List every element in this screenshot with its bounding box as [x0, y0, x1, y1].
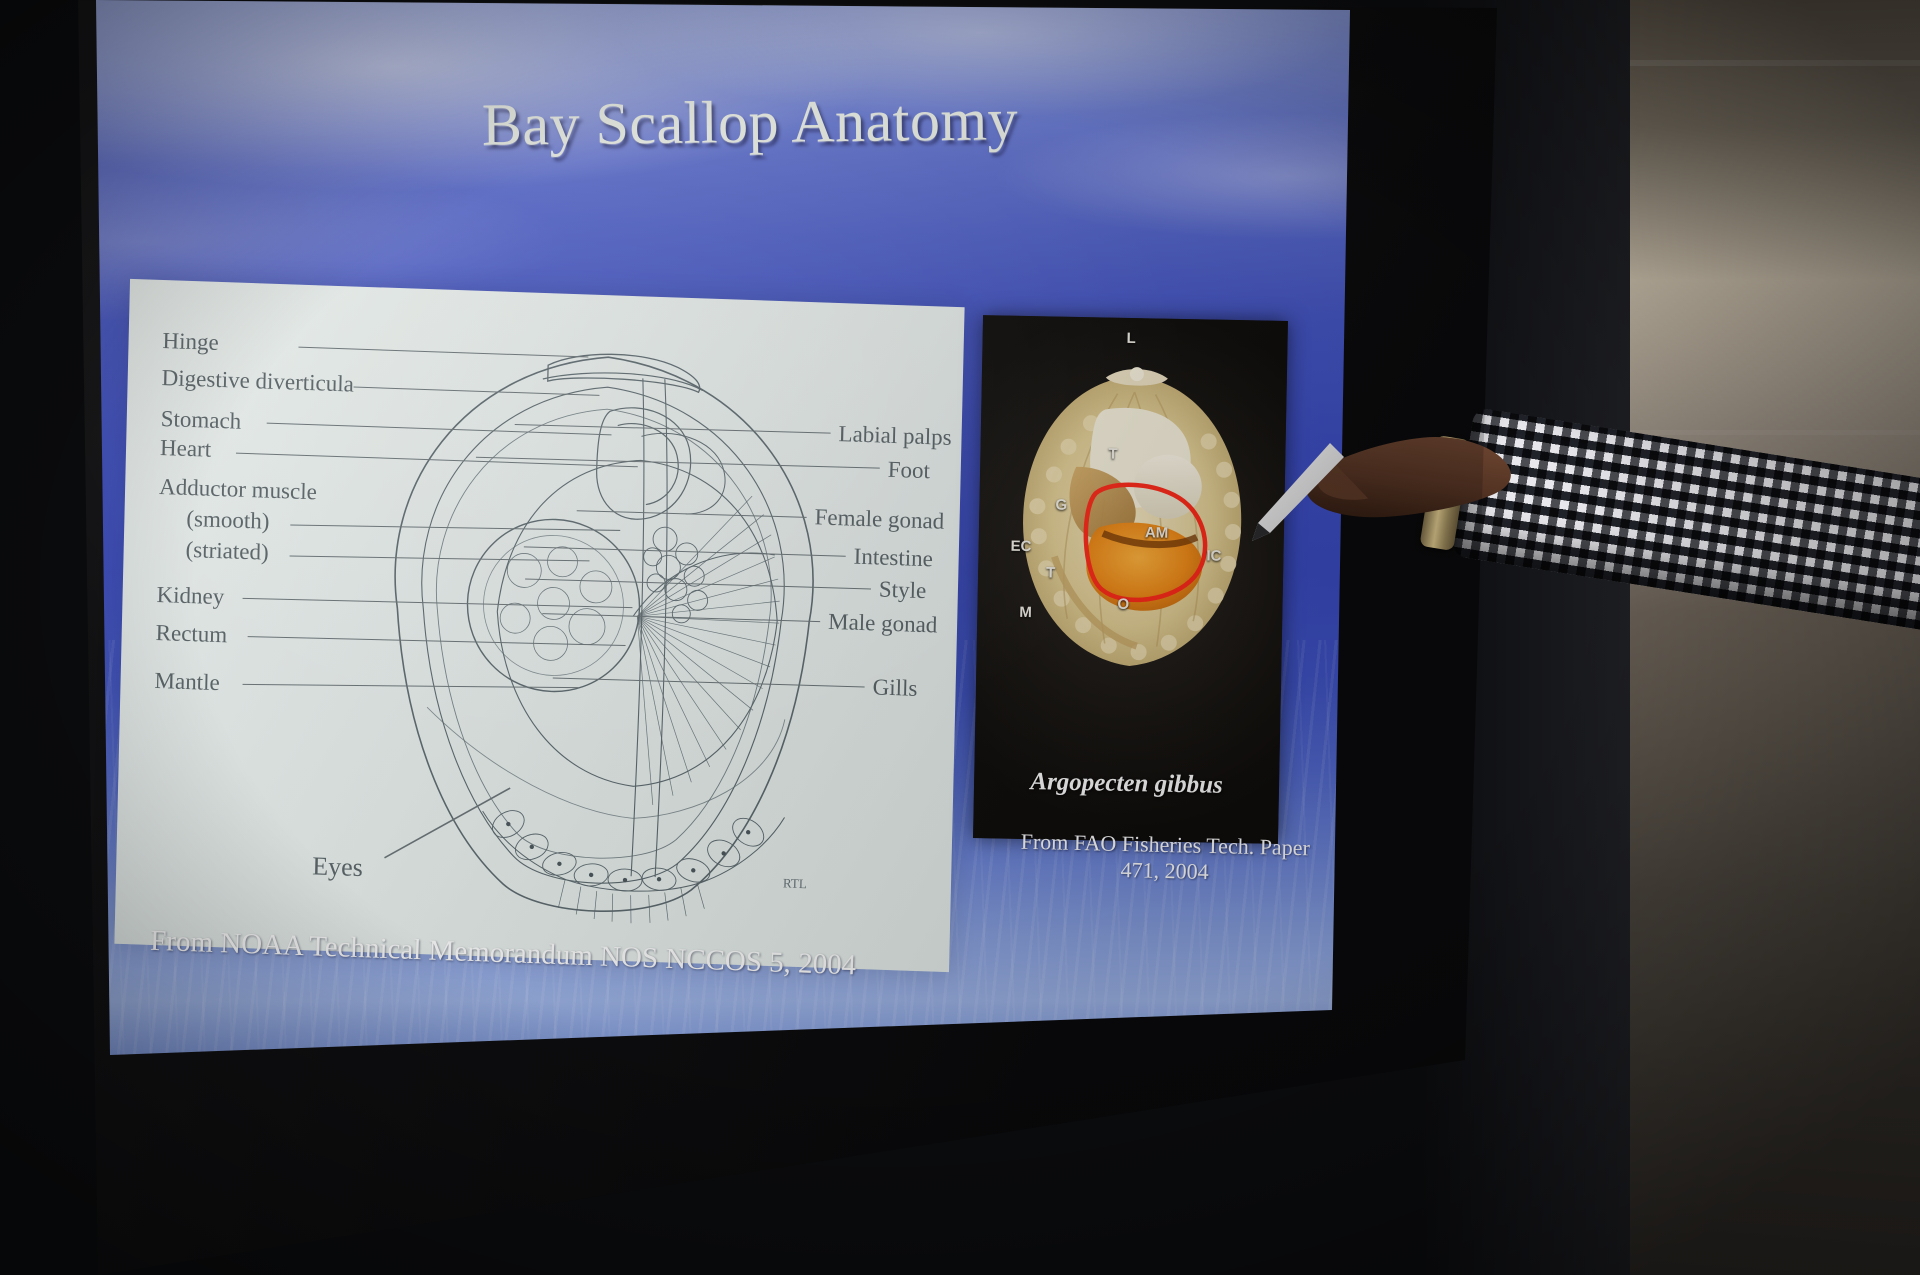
species-name: Argopecten gibbus: [974, 767, 1279, 801]
photo-marker-T-lower: T: [1046, 564, 1055, 581]
photo-marker-L: L: [1126, 330, 1135, 347]
fao-credit: From FAO Fisheries Tech. Paper 471, 2004: [999, 828, 1330, 887]
anatomy-diagram-card: RTL Hinge Digestive diverticula Stomach …: [114, 279, 964, 972]
opened-scallop-photograph: [1004, 356, 1260, 681]
photo-of-projected-slide: Bay Scallop Anatomy: [0, 0, 1920, 1275]
slide-title: Bay Scallop Anatomy: [370, 84, 1131, 161]
photo-marker-AM: AM: [1145, 524, 1169, 541]
room-background-right: [1630, 0, 1920, 1275]
room-shelf-edge-2: [1630, 430, 1920, 435]
scallop-photo-card: L T G AM IC EC T M O Argopecten gibbus: [973, 315, 1288, 844]
leader-eyes: [114, 279, 964, 972]
photo-marker-O: O: [1117, 596, 1129, 613]
photo-marker-M: M: [1019, 604, 1032, 621]
photo-marker-T-upper: T: [1108, 446, 1117, 463]
photo-marker-EC: EC: [1010, 538, 1031, 555]
photo-marker-IC: IC: [1206, 547, 1221, 564]
room-shelf-edge: [1630, 60, 1920, 66]
photo-marker-G: G: [1055, 497, 1067, 514]
